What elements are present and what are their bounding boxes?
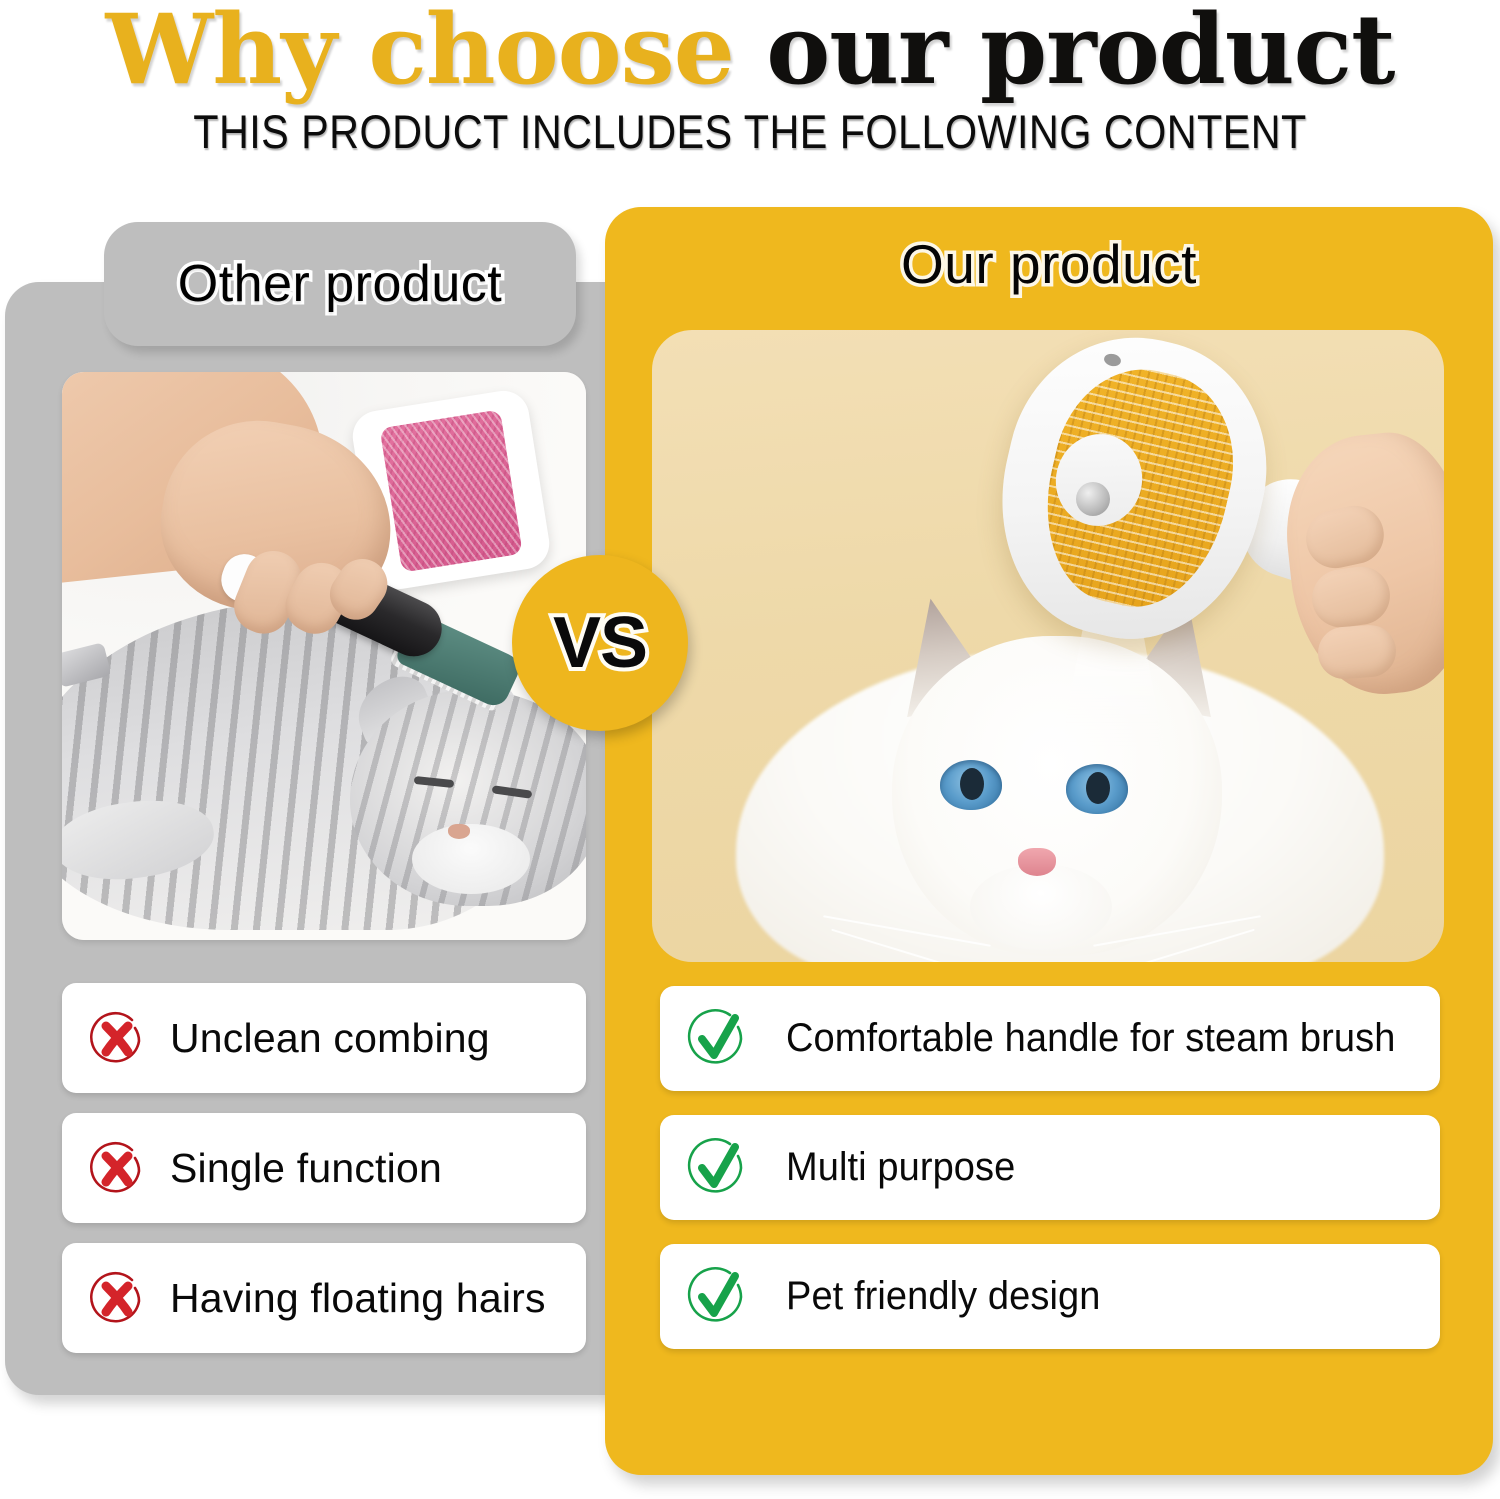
white-cat-pupil-right (1086, 772, 1110, 804)
check-circle-icon (686, 1264, 752, 1330)
cross-circle-icon (86, 1267, 148, 1329)
white-cat-muzzle (970, 864, 1112, 950)
feature-row-floating-hairs: Having floating hairs (62, 1243, 586, 1353)
vs-label: VS (553, 602, 647, 684)
other-product-feature-list: Unclean combing Single function Having f… (62, 983, 586, 1373)
vs-badge: VS (512, 555, 688, 731)
white-cat-pupil-left (960, 768, 984, 800)
other-product-label: Other product (178, 254, 502, 314)
our-product-label: Our product (605, 232, 1493, 296)
feature-label: Pet friendly design (786, 1274, 1100, 1319)
feature-row-single-function: Single function (62, 1113, 586, 1223)
cross-circle-icon (86, 1007, 148, 1069)
page-title-emphasis: our product (766, 0, 1394, 106)
grey-cat-muzzle (412, 824, 530, 894)
white-cat-nose (1018, 848, 1056, 876)
page-subtitle: THIS PRODUCT INCLUDES THE FOLLOWING CONT… (90, 104, 1410, 160)
check-circle-icon (686, 1006, 752, 1072)
our-product-feature-list: Comfortable handle for steam brush Multi… (660, 986, 1440, 1373)
feature-row-unclean-combing: Unclean combing (62, 983, 586, 1093)
pink-brush-pad (379, 409, 522, 572)
feature-row-comfortable-handle: Comfortable handle for steam brush (660, 986, 1440, 1091)
page-title-highlight: Why choose (106, 0, 767, 106)
feature-row-pet-friendly: Pet friendly design (660, 1244, 1440, 1349)
check-circle-icon (686, 1135, 752, 1201)
feature-label: Multi purpose (786, 1145, 1015, 1190)
our-product-photo (652, 330, 1444, 962)
page-title: Why choose our product (0, 0, 1500, 104)
cross-circle-icon (86, 1137, 148, 1199)
feature-label: Unclean combing (170, 1015, 490, 1062)
feature-row-multi-purpose: Multi purpose (660, 1115, 1440, 1220)
feature-label: Having floating hairs (170, 1275, 546, 1322)
brush-button (1076, 482, 1110, 516)
feature-label: Comfortable handle for steam brush (786, 1016, 1395, 1061)
page-header: Why choose our product THIS PRODUCT INCL… (0, 0, 1500, 175)
other-product-label-pill: Other product (104, 222, 576, 346)
feature-label: Single function (170, 1145, 442, 1192)
other-product-photo (62, 372, 586, 940)
grey-cat-nose (448, 824, 470, 839)
